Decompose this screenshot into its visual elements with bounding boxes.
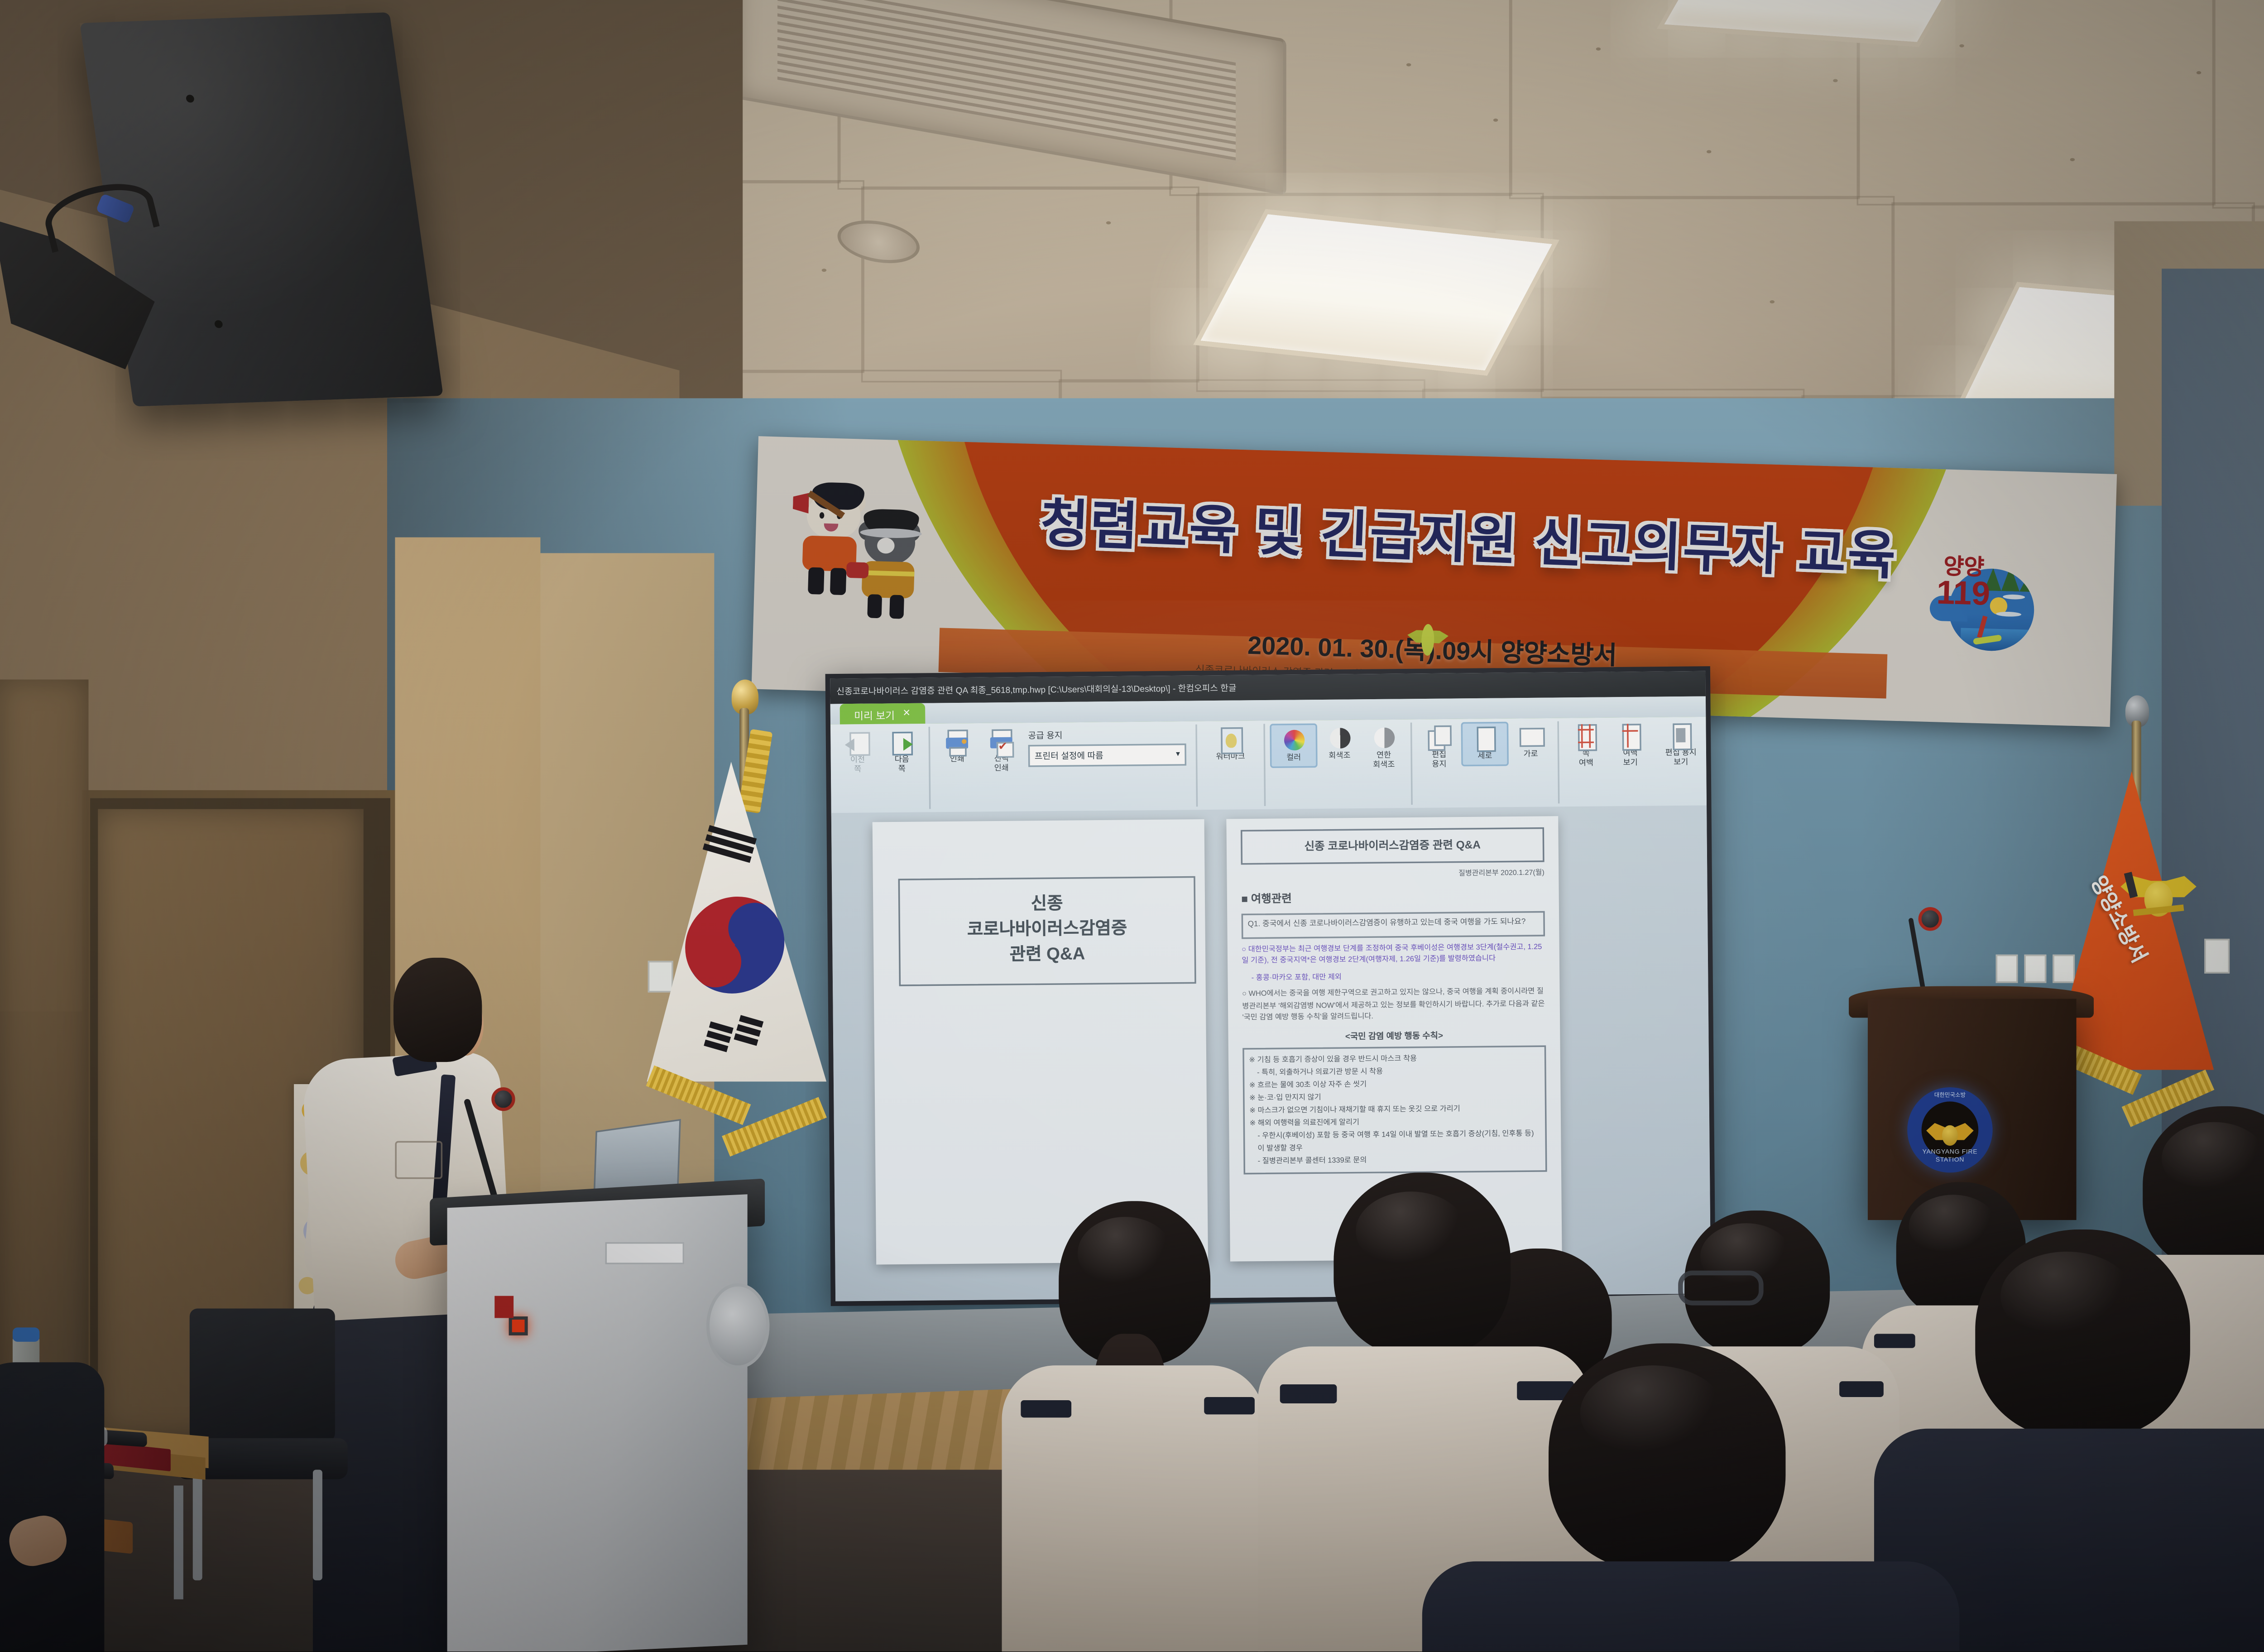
podium-left-sticker <box>605 1242 684 1264</box>
page-margin-button[interactable]: 쪽 여백 <box>1564 721 1608 771</box>
watermark-icon <box>1218 725 1243 753</box>
color-mode-button[interactable]: 컬러 <box>1270 723 1318 767</box>
training-room-photo: 청렴교육 및 긴급지원 신고의무자 교육 2020. 01. 30.(목).09… <box>0 0 2264 1652</box>
page-setup-label: 편집 용지 <box>1432 752 1446 770</box>
guideline-6: - 우한시(후베이성) 포함 등 중국 여행 후 14일 이내 발열 또는 호흡… <box>1250 1128 1541 1156</box>
portrait-icon <box>1472 725 1497 752</box>
doc-answer-2: ○ WHO에서는 중국을 여행 제한구역으로 권고하고 있지는 않으나, 중국 … <box>1242 985 1546 1024</box>
table-leg-2 <box>174 1485 183 1599</box>
podium-left-red-tag <box>494 1296 513 1318</box>
page-margin-label: 쪽 여백 <box>1579 751 1593 768</box>
person-front-left-partial <box>0 1362 104 1652</box>
light-grayscale-icon <box>1371 724 1396 751</box>
slide-title-line-2: 코로나바이러스감염증 <box>907 917 1188 945</box>
yangyang-119-logo: 양양 119 <box>1919 538 2055 659</box>
doc-guideline-list: ※ 기침 등 호흡기 증상이 있을 경우 반드시 마스크 착용 - 특히, 외출… <box>1242 1045 1547 1175</box>
close-icon[interactable]: ✕ <box>902 708 911 719</box>
next-page-button[interactable]: 다음 쪽 <box>879 727 924 777</box>
ribbon-group-watermark: 워터마크 <box>1197 724 1266 807</box>
printer-check-icon: ✔ <box>988 728 1014 755</box>
doc-answer-1: ○ 대한민국정부는 최근 여행경보 단계를 조정하여 중국 후베이성은 여행경보… <box>1242 941 1545 967</box>
page-setup-icon <box>1426 724 1452 751</box>
prev-page-label: 이전 쪽 <box>850 757 865 775</box>
paper-source-select[interactable]: 프린터 설정에 따름 ▾ <box>1028 744 1186 767</box>
hwp-ribbon: 이전 쪽 다음 쪽 <box>830 717 1707 816</box>
hand-tool-button[interactable]: 손도구 <box>1709 720 1711 760</box>
bottle-cap <box>13 1327 39 1341</box>
doc-answer-1-note: - 홍콩·마카오 포함, 대만 제외 <box>1242 969 1545 984</box>
tab-preview[interactable]: 미리 보기 ✕ <box>840 703 925 725</box>
logo-bottom-text: 119 <box>1936 576 1991 611</box>
doc-section-travel: ■ 여행관련 <box>1241 889 1545 908</box>
slide-title-line-1: 신종 <box>906 892 1188 920</box>
landscape-label: 가로 <box>1524 751 1538 760</box>
paper-source-value: 프린터 설정에 따름 <box>1035 749 1103 762</box>
hwp-title-text: 신종코로나바이러스 감염증 관련 QA 최종_5618,tmp.hwp [C:\… <box>836 682 1236 698</box>
light-grayscale-label: 연한 회색조 <box>1373 753 1395 770</box>
show-margin-label: 여백 보기 <box>1623 751 1637 768</box>
guideline-7: - 질병관리본부 콜센터 1339로 문의 <box>1250 1153 1540 1169</box>
page-setup-button[interactable]: 편집 용지 <box>1417 722 1462 772</box>
next-page-label: 다음 쪽 <box>895 757 909 775</box>
portrait-button[interactable]: 세로 <box>1461 722 1509 766</box>
grayscale-icon <box>1327 725 1352 752</box>
arrow-left-page-icon <box>845 729 870 756</box>
doc-guideline-title: <국민 감염 예방 행동 수칙> <box>1242 1028 1546 1043</box>
show-page-icon <box>1668 722 1693 749</box>
wall-switch-plate-right-2[interactable] <box>2024 955 2046 983</box>
arrow-right-page-icon <box>889 729 914 756</box>
firefighter-bear-hose-mascot <box>848 505 943 625</box>
ribbon-group-page-setup: 편집 용지 세로 가로 <box>1412 721 1559 805</box>
prev-page-button[interactable]: 이전 쪽 <box>835 727 880 777</box>
watermark-button[interactable]: 워터마크 <box>1202 724 1259 765</box>
watermark-label: 워터마크 <box>1216 754 1245 763</box>
grayscale-label: 회색조 <box>1329 753 1350 762</box>
selective-print-label: 선택 인쇄 <box>994 756 1008 774</box>
yangyang-fire-station-emblem: YANGYANG FIRE STATION 대한민국소방 <box>1907 1087 1992 1172</box>
logo-top-text: 양양 <box>1943 555 1985 578</box>
doc-header: 신종 코로나바이러스감염증 관련 Q&A <box>1241 827 1545 865</box>
paper-source-combo[interactable]: 공급 용지 프린터 설정에 따름 ▾ <box>1023 725 1191 767</box>
audience-member-6 <box>1454 1343 1928 1652</box>
ribbon-group-color: 컬러 회색조 연한 회색조 <box>1265 723 1413 806</box>
emblem-text-en: YANGYANG FIRE STATION <box>1907 1148 1992 1163</box>
print-label: 인쇄 <box>950 757 964 766</box>
ribbon-group-margins: 쪽 여백 여백 보기 <box>1559 719 1711 803</box>
paper-source-label: 공급 용지 <box>1028 728 1186 742</box>
show-margin-icon <box>1617 722 1643 749</box>
slide-title-box: 신종 코로나바이러스감염증 관련 Q&A <box>898 876 1196 986</box>
portrait-label: 세로 <box>1477 754 1492 763</box>
ribbon-group-print: 인쇄 ✔ 선택 인쇄 공급 용지 프린터 <box>930 725 1198 809</box>
show-margin-button[interactable]: 여백 보기 <box>1608 720 1653 770</box>
presenter-chest-pocket <box>395 1141 442 1179</box>
show-page-button[interactable]: 편집 용지 보기 <box>1652 720 1710 770</box>
color-wheel-icon <box>1281 727 1306 754</box>
page-margin-icon <box>1573 722 1598 749</box>
wall-switch-plate-right-1[interactable] <box>1996 955 2018 983</box>
podium-left <box>447 1194 748 1652</box>
preview-page-left[interactable]: 신종 코로나바이러스감염증 관련 Q&A <box>873 819 1208 1265</box>
emblem-text-kr: 대한민국소방 <box>1907 1092 1992 1100</box>
show-page-label: 편집 용지 보기 <box>1665 750 1697 768</box>
podium-power-led <box>509 1316 528 1335</box>
fire-service-emblem-small <box>1407 619 1449 661</box>
audience-member-1 <box>996 1201 1264 1652</box>
landscape-icon <box>1518 723 1543 750</box>
selective-print-button[interactable]: ✔ 선택 인쇄 <box>979 726 1024 776</box>
podium-left-dial[interactable] <box>706 1283 770 1369</box>
tab-preview-label: 미리 보기 <box>854 706 895 722</box>
slide-title-line-3: 관련 Q&A <box>907 942 1188 970</box>
light-grayscale-button[interactable]: 연한 회색조 <box>1362 723 1406 773</box>
landscape-button[interactable]: 가로 <box>1508 721 1553 762</box>
doc-question-1: Q1. 중국에서 신종 코로나바이러스감염증이 유행하고 있는데 중국 여행을 … <box>1242 911 1545 938</box>
chevron-down-icon[interactable]: ▾ <box>1176 750 1180 759</box>
ribbon-group-navigation: 이전 쪽 다음 쪽 <box>830 727 931 810</box>
doc-date-note: 질병관리본부 2020.1.27(월) <box>1241 869 1545 881</box>
presenter-head <box>393 958 482 1062</box>
printer-icon <box>944 728 969 755</box>
color-mode-label: 컬러 <box>1286 755 1301 764</box>
mic-head-left <box>491 1087 515 1111</box>
mic-head-right <box>1919 907 1942 931</box>
grayscale-button[interactable]: 회색조 <box>1317 723 1362 764</box>
print-button[interactable]: 인쇄 <box>935 726 979 767</box>
